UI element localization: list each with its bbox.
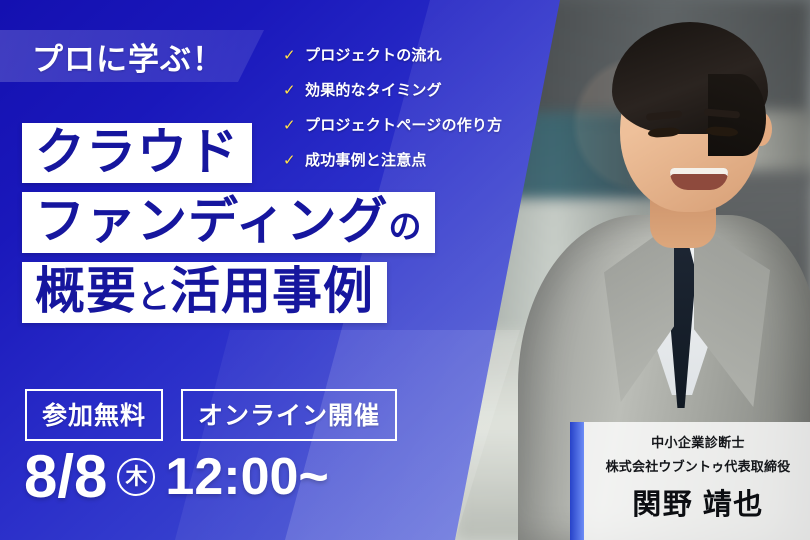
headline-particle: と — [137, 278, 170, 315]
badge-row: 参加無料 オンライン開催 — [25, 389, 397, 441]
event-date: 8/8 — [24, 447, 107, 507]
list-item-label: プロジェクトの流れ — [305, 44, 442, 65]
kicker-banner: プロに学ぶ！ — [0, 30, 264, 82]
webinar-banner: プロに学ぶ！ ✓ プロジェクトの流れ ✓ 効果的なタイミング ✓ プロジェクトペ… — [0, 0, 810, 540]
plate-body: 中小企業診断士 株式会社ウブントゥ代表取締役 関野 靖也 — [584, 422, 810, 540]
event-datetime: 8/8 木 12:00~ — [24, 447, 329, 507]
speaker-role: 中小企業診断士 — [651, 432, 745, 451]
list-item: ✓ プロジェクトの流れ — [283, 44, 502, 65]
headline-line-2: ファンディングの — [22, 192, 435, 253]
check-icon: ✓ — [283, 81, 305, 99]
list-item: ✓ 効果的なタイミング — [283, 79, 502, 100]
status-badge-free: 参加無料 — [25, 389, 163, 441]
headline-line-3: 概要と活用事例 — [22, 262, 387, 323]
headline-particle: の — [389, 208, 422, 245]
speaker-name-plate: 中小企業診断士 株式会社ウブントゥ代表取締役 関野 靖也 — [570, 422, 810, 540]
headline-text: 活用事例 — [170, 263, 374, 319]
headline-text: ファンディング — [35, 193, 389, 249]
page-title: クラウド ファンディングの 概要と活用事例 — [22, 123, 435, 332]
headline-line-1: クラウド — [22, 123, 252, 183]
status-badge-online: オンライン開催 — [181, 389, 397, 441]
event-time: 12:00~ — [165, 451, 328, 503]
speaker-name: 関野 靖也 — [632, 481, 764, 523]
plate-accent-bar — [570, 422, 584, 540]
headline-text: 概要 — [35, 263, 137, 319]
check-icon: ✓ — [283, 46, 305, 64]
kicker-label: プロに学ぶ！ — [32, 34, 224, 79]
speaker-company-title: 株式会社ウブントゥ代表取締役 — [606, 456, 791, 475]
headline-text: クラウド — [35, 124, 239, 180]
day-of-week-badge: 木 — [117, 458, 155, 496]
list-item-label: 効果的なタイミング — [305, 79, 442, 100]
